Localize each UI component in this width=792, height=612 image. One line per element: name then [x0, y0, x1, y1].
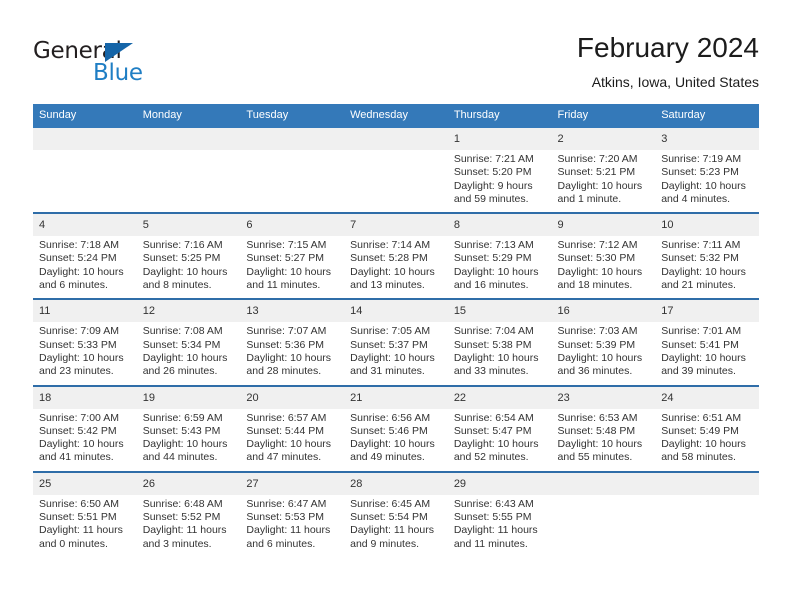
day-sun-info: Sunrise: 7:20 AMSunset: 5:21 PMDaylight:… — [552, 150, 656, 212]
daylight-text: Daylight: 10 hours and 31 minutes. — [350, 352, 442, 379]
daylight-text: Daylight: 11 hours and 9 minutes. — [350, 524, 442, 551]
calendar-day-cell[interactable]: 16Sunrise: 7:03 AMSunset: 5:39 PMDayligh… — [552, 299, 656, 385]
calendar-day-cell[interactable]: 4Sunrise: 7:18 AMSunset: 5:24 PMDaylight… — [33, 213, 137, 299]
calendar-day-cell[interactable]: 11Sunrise: 7:09 AMSunset: 5:33 PMDayligh… — [33, 299, 137, 385]
day-number: 24 — [655, 387, 759, 409]
daylight-text: Daylight: 10 hours and 49 minutes. — [350, 438, 442, 465]
day-sun-info — [33, 150, 137, 212]
sunrise-text: Sunrise: 6:57 AM — [246, 412, 338, 425]
calendar-day-cell[interactable]: 23Sunrise: 6:53 AMSunset: 5:48 PMDayligh… — [552, 386, 656, 472]
day-number — [552, 473, 656, 495]
day-number: 4 — [33, 214, 137, 236]
sunset-text: Sunset: 5:25 PM — [143, 252, 235, 265]
sunset-text: Sunset: 5:37 PM — [350, 339, 442, 352]
sunset-text: Sunset: 5:21 PM — [558, 166, 650, 179]
sunrise-text: Sunrise: 7:21 AM — [454, 153, 546, 166]
day-number: 28 — [344, 473, 448, 495]
day-sun-info: Sunrise: 6:45 AMSunset: 5:54 PMDaylight:… — [344, 495, 448, 557]
day-number: 20 — [240, 387, 344, 409]
daylight-text: Daylight: 10 hours and 11 minutes. — [246, 266, 338, 293]
calendar-empty-cell — [552, 472, 656, 557]
day-number: 29 — [448, 473, 552, 495]
day-sun-info — [137, 150, 241, 212]
sunrise-text: Sunrise: 6:54 AM — [454, 412, 546, 425]
sunrise-text: Sunrise: 7:03 AM — [558, 325, 650, 338]
day-sun-info: Sunrise: 6:57 AMSunset: 5:44 PMDaylight:… — [240, 409, 344, 471]
daylight-text: Daylight: 10 hours and 36 minutes. — [558, 352, 650, 379]
calendar-day-cell[interactable]: 18Sunrise: 7:00 AMSunset: 5:42 PMDayligh… — [33, 386, 137, 472]
calendar-day-cell[interactable]: 25Sunrise: 6:50 AMSunset: 5:51 PMDayligh… — [33, 472, 137, 557]
calendar-day-cell[interactable]: 27Sunrise: 6:47 AMSunset: 5:53 PMDayligh… — [240, 472, 344, 557]
sunset-text: Sunset: 5:52 PM — [143, 511, 235, 524]
day-sun-info: Sunrise: 6:53 AMSunset: 5:48 PMDaylight:… — [552, 409, 656, 471]
day-sun-info: Sunrise: 6:56 AMSunset: 5:46 PMDaylight:… — [344, 409, 448, 471]
sunrise-text: Sunrise: 6:59 AM — [143, 412, 235, 425]
sunrise-text: Sunrise: 6:56 AM — [350, 412, 442, 425]
daylight-text: Daylight: 10 hours and 6 minutes. — [39, 266, 131, 293]
weekday-header-sunday: Sunday — [33, 104, 137, 128]
sunset-text: Sunset: 5:47 PM — [454, 425, 546, 438]
sunrise-text: Sunrise: 7:20 AM — [558, 153, 650, 166]
daylight-text: Daylight: 10 hours and 26 minutes. — [143, 352, 235, 379]
sunset-text: Sunset: 5:49 PM — [661, 425, 753, 438]
day-number: 15 — [448, 300, 552, 322]
sunset-text: Sunset: 5:44 PM — [246, 425, 338, 438]
day-sun-info: Sunrise: 7:18 AMSunset: 5:24 PMDaylight:… — [33, 236, 137, 298]
day-sun-info: Sunrise: 7:15 AMSunset: 5:27 PMDaylight:… — [240, 236, 344, 298]
day-number: 5 — [137, 214, 241, 236]
daylight-text: Daylight: 10 hours and 39 minutes. — [661, 352, 753, 379]
day-number: 16 — [552, 300, 656, 322]
daylight-text: Daylight: 11 hours and 11 minutes. — [454, 524, 546, 551]
title-block: February 2024 Atkins, Iowa, United State… — [577, 30, 759, 91]
daylight-text: Daylight: 11 hours and 6 minutes. — [246, 524, 338, 551]
sunrise-text: Sunrise: 6:47 AM — [246, 498, 338, 511]
day-number: 13 — [240, 300, 344, 322]
day-sun-info — [344, 150, 448, 212]
calendar-day-cell[interactable]: 29Sunrise: 6:43 AMSunset: 5:55 PMDayligh… — [448, 472, 552, 557]
general-blue-logo[interactable]: General Blue — [33, 38, 243, 94]
day-sun-info: Sunrise: 7:01 AMSunset: 5:41 PMDaylight:… — [655, 322, 759, 384]
sunrise-text: Sunrise: 7:04 AM — [454, 325, 546, 338]
day-number: 9 — [552, 214, 656, 236]
calendar-body: 1Sunrise: 7:21 AMSunset: 5:20 PMDaylight… — [33, 128, 759, 557]
weekday-header-thursday: Thursday — [448, 104, 552, 128]
sunset-text: Sunset: 5:33 PM — [39, 339, 131, 352]
calendar-page: General Blue February 2024 Atkins, Iowa,… — [0, 0, 792, 612]
sunrise-text: Sunrise: 7:00 AM — [39, 412, 131, 425]
calendar-head: Sunday Monday Tuesday Wednesday Thursday… — [33, 104, 759, 128]
sunrise-text: Sunrise: 7:14 AM — [350, 239, 442, 252]
calendar-day-cell[interactable]: 28Sunrise: 6:45 AMSunset: 5:54 PMDayligh… — [344, 472, 448, 557]
weekday-header-tuesday: Tuesday — [240, 104, 344, 128]
day-sun-info: Sunrise: 7:12 AMSunset: 5:30 PMDaylight:… — [552, 236, 656, 298]
calendar-empty-cell — [137, 128, 241, 213]
daylight-text: Daylight: 9 hours and 59 minutes. — [454, 180, 546, 207]
sunset-text: Sunset: 5:38 PM — [454, 339, 546, 352]
weekday-header-friday: Friday — [552, 104, 656, 128]
page-subtitle: Atkins, Iowa, United States — [577, 73, 759, 91]
calendar-week-row: 1Sunrise: 7:21 AMSunset: 5:20 PMDaylight… — [33, 128, 759, 213]
sunset-text: Sunset: 5:43 PM — [143, 425, 235, 438]
sunrise-text: Sunrise: 6:51 AM — [661, 412, 753, 425]
sunset-text: Sunset: 5:28 PM — [350, 252, 442, 265]
day-sun-info: Sunrise: 7:21 AMSunset: 5:20 PMDaylight:… — [448, 150, 552, 212]
calendar-day-cell[interactable]: 6Sunrise: 7:15 AMSunset: 5:27 PMDaylight… — [240, 213, 344, 299]
day-sun-info: Sunrise: 6:47 AMSunset: 5:53 PMDaylight:… — [240, 495, 344, 557]
day-sun-info: Sunrise: 7:07 AMSunset: 5:36 PMDaylight:… — [240, 322, 344, 384]
sunrise-text: Sunrise: 7:09 AM — [39, 325, 131, 338]
sunrise-text: Sunrise: 6:48 AM — [143, 498, 235, 511]
sunrise-text: Sunrise: 7:18 AM — [39, 239, 131, 252]
sunset-text: Sunset: 5:20 PM — [454, 166, 546, 179]
sunset-text: Sunset: 5:23 PM — [661, 166, 753, 179]
calendar-day-cell[interactable]: 3Sunrise: 7:19 AMSunset: 5:23 PMDaylight… — [655, 128, 759, 213]
sunset-text: Sunset: 5:54 PM — [350, 511, 442, 524]
calendar-day-cell[interactable]: 12Sunrise: 7:08 AMSunset: 5:34 PMDayligh… — [137, 299, 241, 385]
logo-text-blue: Blue — [93, 60, 143, 86]
daylight-text: Daylight: 11 hours and 3 minutes. — [143, 524, 235, 551]
sunrise-text: Sunrise: 7:05 AM — [350, 325, 442, 338]
day-number: 27 — [240, 473, 344, 495]
sunset-text: Sunset: 5:36 PM — [246, 339, 338, 352]
day-number — [240, 128, 344, 150]
day-number: 25 — [33, 473, 137, 495]
day-number: 26 — [137, 473, 241, 495]
calendar-empty-cell — [655, 472, 759, 557]
calendar-week-row: 4Sunrise: 7:18 AMSunset: 5:24 PMDaylight… — [33, 213, 759, 299]
day-number — [137, 128, 241, 150]
daylight-text: Daylight: 10 hours and 47 minutes. — [246, 438, 338, 465]
sunrise-text: Sunrise: 7:16 AM — [143, 239, 235, 252]
calendar-day-cell[interactable]: 1Sunrise: 7:21 AMSunset: 5:20 PMDaylight… — [448, 128, 552, 213]
sunset-text: Sunset: 5:42 PM — [39, 425, 131, 438]
day-sun-info: Sunrise: 7:11 AMSunset: 5:32 PMDaylight:… — [655, 236, 759, 298]
calendar-day-cell[interactable]: 2Sunrise: 7:20 AMSunset: 5:21 PMDaylight… — [552, 128, 656, 213]
sunrise-text: Sunrise: 6:43 AM — [454, 498, 546, 511]
sunset-text: Sunset: 5:29 PM — [454, 252, 546, 265]
weekday-header-wednesday: Wednesday — [344, 104, 448, 128]
calendar-day-cell[interactable]: 20Sunrise: 6:57 AMSunset: 5:44 PMDayligh… — [240, 386, 344, 472]
sunset-text: Sunset: 5:48 PM — [558, 425, 650, 438]
day-number — [33, 128, 137, 150]
day-number: 6 — [240, 214, 344, 236]
calendar-day-cell[interactable]: 9Sunrise: 7:12 AMSunset: 5:30 PMDaylight… — [552, 213, 656, 299]
daylight-text: Daylight: 11 hours and 0 minutes. — [39, 524, 131, 551]
calendar-day-cell[interactable]: 8Sunrise: 7:13 AMSunset: 5:29 PMDaylight… — [448, 213, 552, 299]
calendar-day-cell[interactable]: 10Sunrise: 7:11 AMSunset: 5:32 PMDayligh… — [655, 213, 759, 299]
daylight-text: Daylight: 10 hours and 21 minutes. — [661, 266, 753, 293]
sunrise-text: Sunrise: 7:07 AM — [246, 325, 338, 338]
sunset-text: Sunset: 5:46 PM — [350, 425, 442, 438]
day-number: 14 — [344, 300, 448, 322]
day-sun-info: Sunrise: 6:43 AMSunset: 5:55 PMDaylight:… — [448, 495, 552, 557]
day-number: 11 — [33, 300, 137, 322]
day-number: 10 — [655, 214, 759, 236]
sunrise-text: Sunrise: 7:08 AM — [143, 325, 235, 338]
daylight-text: Daylight: 10 hours and 1 minute. — [558, 180, 650, 207]
day-number: 2 — [552, 128, 656, 150]
sunrise-text: Sunrise: 7:11 AM — [661, 239, 753, 252]
calendar-day-cell[interactable]: 19Sunrise: 6:59 AMSunset: 5:43 PMDayligh… — [137, 386, 241, 472]
day-sun-info: Sunrise: 7:05 AMSunset: 5:37 PMDaylight:… — [344, 322, 448, 384]
sunset-text: Sunset: 5:32 PM — [661, 252, 753, 265]
calendar-table: Sunday Monday Tuesday Wednesday Thursday… — [33, 104, 759, 557]
day-sun-info: Sunrise: 7:00 AMSunset: 5:42 PMDaylight:… — [33, 409, 137, 471]
weekday-header-monday: Monday — [137, 104, 241, 128]
day-sun-info: Sunrise: 7:19 AMSunset: 5:23 PMDaylight:… — [655, 150, 759, 212]
page-header: General Blue February 2024 Atkins, Iowa,… — [33, 30, 759, 102]
daylight-text: Daylight: 10 hours and 41 minutes. — [39, 438, 131, 465]
sunrise-text: Sunrise: 7:15 AM — [246, 239, 338, 252]
daylight-text: Daylight: 10 hours and 13 minutes. — [350, 266, 442, 293]
day-sun-info: Sunrise: 7:14 AMSunset: 5:28 PMDaylight:… — [344, 236, 448, 298]
calendar-day-cell[interactable]: 21Sunrise: 6:56 AMSunset: 5:46 PMDayligh… — [344, 386, 448, 472]
sunset-text: Sunset: 5:24 PM — [39, 252, 131, 265]
day-sun-info: Sunrise: 7:04 AMSunset: 5:38 PMDaylight:… — [448, 322, 552, 384]
daylight-text: Daylight: 10 hours and 33 minutes. — [454, 352, 546, 379]
calendar-day-cell[interactable]: 15Sunrise: 7:04 AMSunset: 5:38 PMDayligh… — [448, 299, 552, 385]
daylight-text: Daylight: 10 hours and 52 minutes. — [454, 438, 546, 465]
sunrise-text: Sunrise: 7:19 AM — [661, 153, 753, 166]
calendar-week-row: 11Sunrise: 7:09 AMSunset: 5:33 PMDayligh… — [33, 299, 759, 385]
sunrise-text: Sunrise: 7:01 AM — [661, 325, 753, 338]
sunrise-text: Sunrise: 6:45 AM — [350, 498, 442, 511]
daylight-text: Daylight: 10 hours and 58 minutes. — [661, 438, 753, 465]
calendar-day-cell[interactable]: 26Sunrise: 6:48 AMSunset: 5:52 PMDayligh… — [137, 472, 241, 557]
sunset-text: Sunset: 5:51 PM — [39, 511, 131, 524]
sunrise-text: Sunrise: 7:12 AM — [558, 239, 650, 252]
sunrise-text: Sunrise: 7:13 AM — [454, 239, 546, 252]
daylight-text: Daylight: 10 hours and 4 minutes. — [661, 180, 753, 207]
day-sun-info: Sunrise: 7:09 AMSunset: 5:33 PMDaylight:… — [33, 322, 137, 384]
day-sun-info: Sunrise: 7:16 AMSunset: 5:25 PMDaylight:… — [137, 236, 241, 298]
daylight-text: Daylight: 10 hours and 23 minutes. — [39, 352, 131, 379]
calendar-day-cell[interactable]: 22Sunrise: 6:54 AMSunset: 5:47 PMDayligh… — [448, 386, 552, 472]
day-sun-info: Sunrise: 7:13 AMSunset: 5:29 PMDaylight:… — [448, 236, 552, 298]
day-number: 23 — [552, 387, 656, 409]
day-number: 19 — [137, 387, 241, 409]
calendar-week-row: 25Sunrise: 6:50 AMSunset: 5:51 PMDayligh… — [33, 472, 759, 557]
day-number: 3 — [655, 128, 759, 150]
sunset-text: Sunset: 5:30 PM — [558, 252, 650, 265]
daylight-text: Daylight: 10 hours and 44 minutes. — [143, 438, 235, 465]
daylight-text: Daylight: 10 hours and 28 minutes. — [246, 352, 338, 379]
sunset-text: Sunset: 5:55 PM — [454, 511, 546, 524]
day-sun-info: Sunrise: 6:59 AMSunset: 5:43 PMDaylight:… — [137, 409, 241, 471]
day-number: 17 — [655, 300, 759, 322]
day-number: 1 — [448, 128, 552, 150]
daylight-text: Daylight: 10 hours and 16 minutes. — [454, 266, 546, 293]
day-sun-info: Sunrise: 6:51 AMSunset: 5:49 PMDaylight:… — [655, 409, 759, 471]
day-sun-info: Sunrise: 6:50 AMSunset: 5:51 PMDaylight:… — [33, 495, 137, 557]
sunset-text: Sunset: 5:41 PM — [661, 339, 753, 352]
daylight-text: Daylight: 10 hours and 18 minutes. — [558, 266, 650, 293]
day-number: 8 — [448, 214, 552, 236]
day-sun-info — [655, 495, 759, 557]
day-number: 7 — [344, 214, 448, 236]
day-number — [344, 128, 448, 150]
calendar-day-cell[interactable]: 17Sunrise: 7:01 AMSunset: 5:41 PMDayligh… — [655, 299, 759, 385]
day-sun-info: Sunrise: 7:08 AMSunset: 5:34 PMDaylight:… — [137, 322, 241, 384]
calendar-day-cell[interactable]: 14Sunrise: 7:05 AMSunset: 5:37 PMDayligh… — [344, 299, 448, 385]
day-number: 21 — [344, 387, 448, 409]
daylight-text: Daylight: 10 hours and 8 minutes. — [143, 266, 235, 293]
weekday-header-saturday: Saturday — [655, 104, 759, 128]
day-number: 18 — [33, 387, 137, 409]
daylight-text: Daylight: 10 hours and 55 minutes. — [558, 438, 650, 465]
calendar-day-cell[interactable]: 24Sunrise: 6:51 AMSunset: 5:49 PMDayligh… — [655, 386, 759, 472]
day-number — [655, 473, 759, 495]
day-sun-info: Sunrise: 6:54 AMSunset: 5:47 PMDaylight:… — [448, 409, 552, 471]
sunset-text: Sunset: 5:39 PM — [558, 339, 650, 352]
sunset-text: Sunset: 5:34 PM — [143, 339, 235, 352]
day-sun-info — [240, 150, 344, 212]
sunrise-text: Sunrise: 6:50 AM — [39, 498, 131, 511]
day-sun-info — [552, 495, 656, 557]
day-sun-info: Sunrise: 7:03 AMSunset: 5:39 PMDaylight:… — [552, 322, 656, 384]
calendar-empty-cell — [33, 128, 137, 213]
day-sun-info: Sunrise: 6:48 AMSunset: 5:52 PMDaylight:… — [137, 495, 241, 557]
calendar-empty-cell — [344, 128, 448, 213]
calendar-empty-cell — [240, 128, 344, 213]
sunrise-text: Sunrise: 6:53 AM — [558, 412, 650, 425]
calendar-day-cell[interactable]: 7Sunrise: 7:14 AMSunset: 5:28 PMDaylight… — [344, 213, 448, 299]
sunset-text: Sunset: 5:27 PM — [246, 252, 338, 265]
sunset-text: Sunset: 5:53 PM — [246, 511, 338, 524]
calendar-week-row: 18Sunrise: 7:00 AMSunset: 5:42 PMDayligh… — [33, 386, 759, 472]
day-number: 22 — [448, 387, 552, 409]
calendar-day-cell[interactable]: 13Sunrise: 7:07 AMSunset: 5:36 PMDayligh… — [240, 299, 344, 385]
calendar-day-cell[interactable]: 5Sunrise: 7:16 AMSunset: 5:25 PMDaylight… — [137, 213, 241, 299]
day-number: 12 — [137, 300, 241, 322]
weekday-header-row: Sunday Monday Tuesday Wednesday Thursday… — [33, 104, 759, 128]
page-title: February 2024 — [577, 30, 759, 66]
